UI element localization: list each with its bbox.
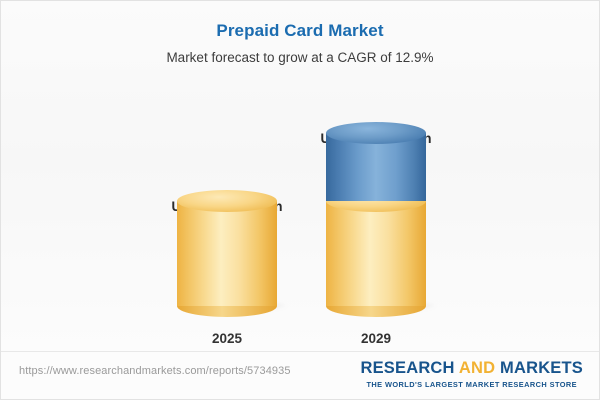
bar-segment-base-2025 — [177, 201, 277, 306]
chart-plot-area: USD 28.37 Billion 2025 USD 46.16 Billion — [1, 81, 599, 346]
logo-word-research: RESEARCH — [360, 359, 454, 377]
logo-tagline: THE WORLD'S LARGEST MARKET RESEARCH STOR… — [360, 380, 583, 389]
page-title: Prepaid Card Market — [1, 21, 599, 41]
category-label-2029: 2029 — [296, 331, 456, 346]
report-url[interactable]: https://www.researchandmarkets.com/repor… — [19, 365, 291, 377]
logo-wordmark: RESEARCH AND MARKETS — [360, 359, 583, 378]
category-label-2025: 2025 — [147, 331, 307, 346]
bar-segment-growth-2029 — [326, 133, 426, 201]
bar-top-cap-2029 — [326, 122, 426, 144]
bar-body-2025 — [177, 201, 277, 306]
research-and-markets-logo[interactable]: RESEARCH AND MARKETS THE WORLD'S LARGEST… — [360, 359, 583, 389]
bar-segment-base-2029 — [326, 201, 426, 306]
chart-header: Prepaid Card Market Market forecast to g… — [1, 1, 599, 65]
infographic-card: Prepaid Card Market Market forecast to g… — [0, 0, 600, 400]
chart-subtitle: Market forecast to grow at a CAGR of 12.… — [1, 50, 599, 65]
logo-word-and: AND — [459, 359, 495, 377]
footer-bar: https://www.researchandmarkets.com/repor… — [1, 351, 599, 399]
logo-word-markets: MARKETS — [500, 359, 583, 377]
bar-top-cap-2025 — [177, 190, 277, 212]
bar-body-base-2029 — [326, 201, 426, 306]
